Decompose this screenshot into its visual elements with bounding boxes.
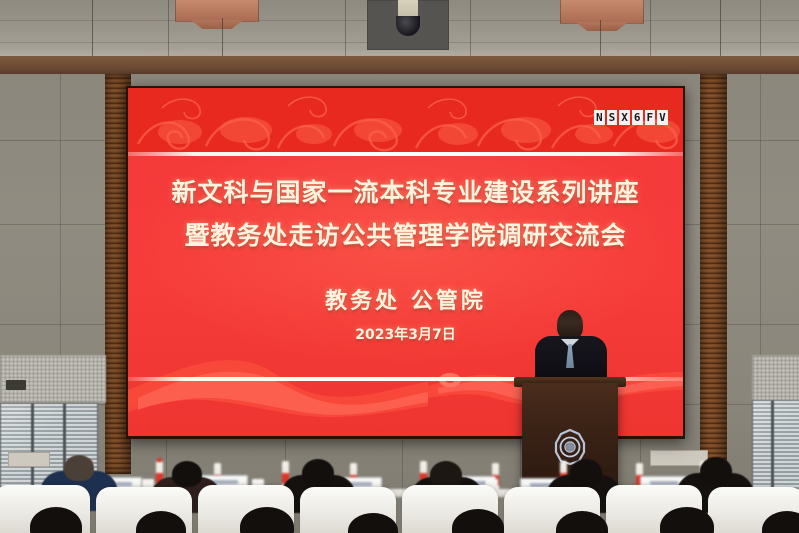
audience-head	[700, 457, 732, 485]
lecture-hall-photo: N S X 6 F V 新文科与国家一流本科专业建设系列讲座 暨教务处走访公共管…	[0, 0, 799, 533]
audience-head	[302, 459, 334, 487]
watermark: N S X 6 F V	[594, 110, 668, 125]
watermark-char: F	[645, 110, 656, 125]
audience-head	[64, 455, 94, 481]
banner-title-line-1: 新文科与国家一流本科专业建设系列讲座	[128, 176, 683, 210]
watermark-char: V	[657, 110, 668, 125]
wood-slat-column-right	[700, 74, 727, 474]
wall-grille-right	[752, 355, 799, 402]
watermark-char: 6	[632, 110, 643, 125]
banner-title-line-2: 暨教务处走访公共管理学院调研交流会	[128, 219, 683, 253]
wall-grille-left	[0, 355, 106, 403]
speaker-person	[535, 310, 607, 386]
watermark-char: N	[594, 110, 605, 125]
watermark-char: X	[619, 110, 630, 125]
bottle-cap	[157, 458, 162, 462]
ceiling-speaker-right	[560, 0, 644, 24]
ceiling	[0, 0, 799, 62]
watermark-char: S	[607, 110, 618, 125]
wall-socket-left	[6, 380, 26, 390]
audience-head	[570, 459, 602, 487]
audience-head	[172, 461, 202, 487]
audience-area	[0, 455, 799, 533]
ceiling-speaker-left	[175, 0, 259, 22]
